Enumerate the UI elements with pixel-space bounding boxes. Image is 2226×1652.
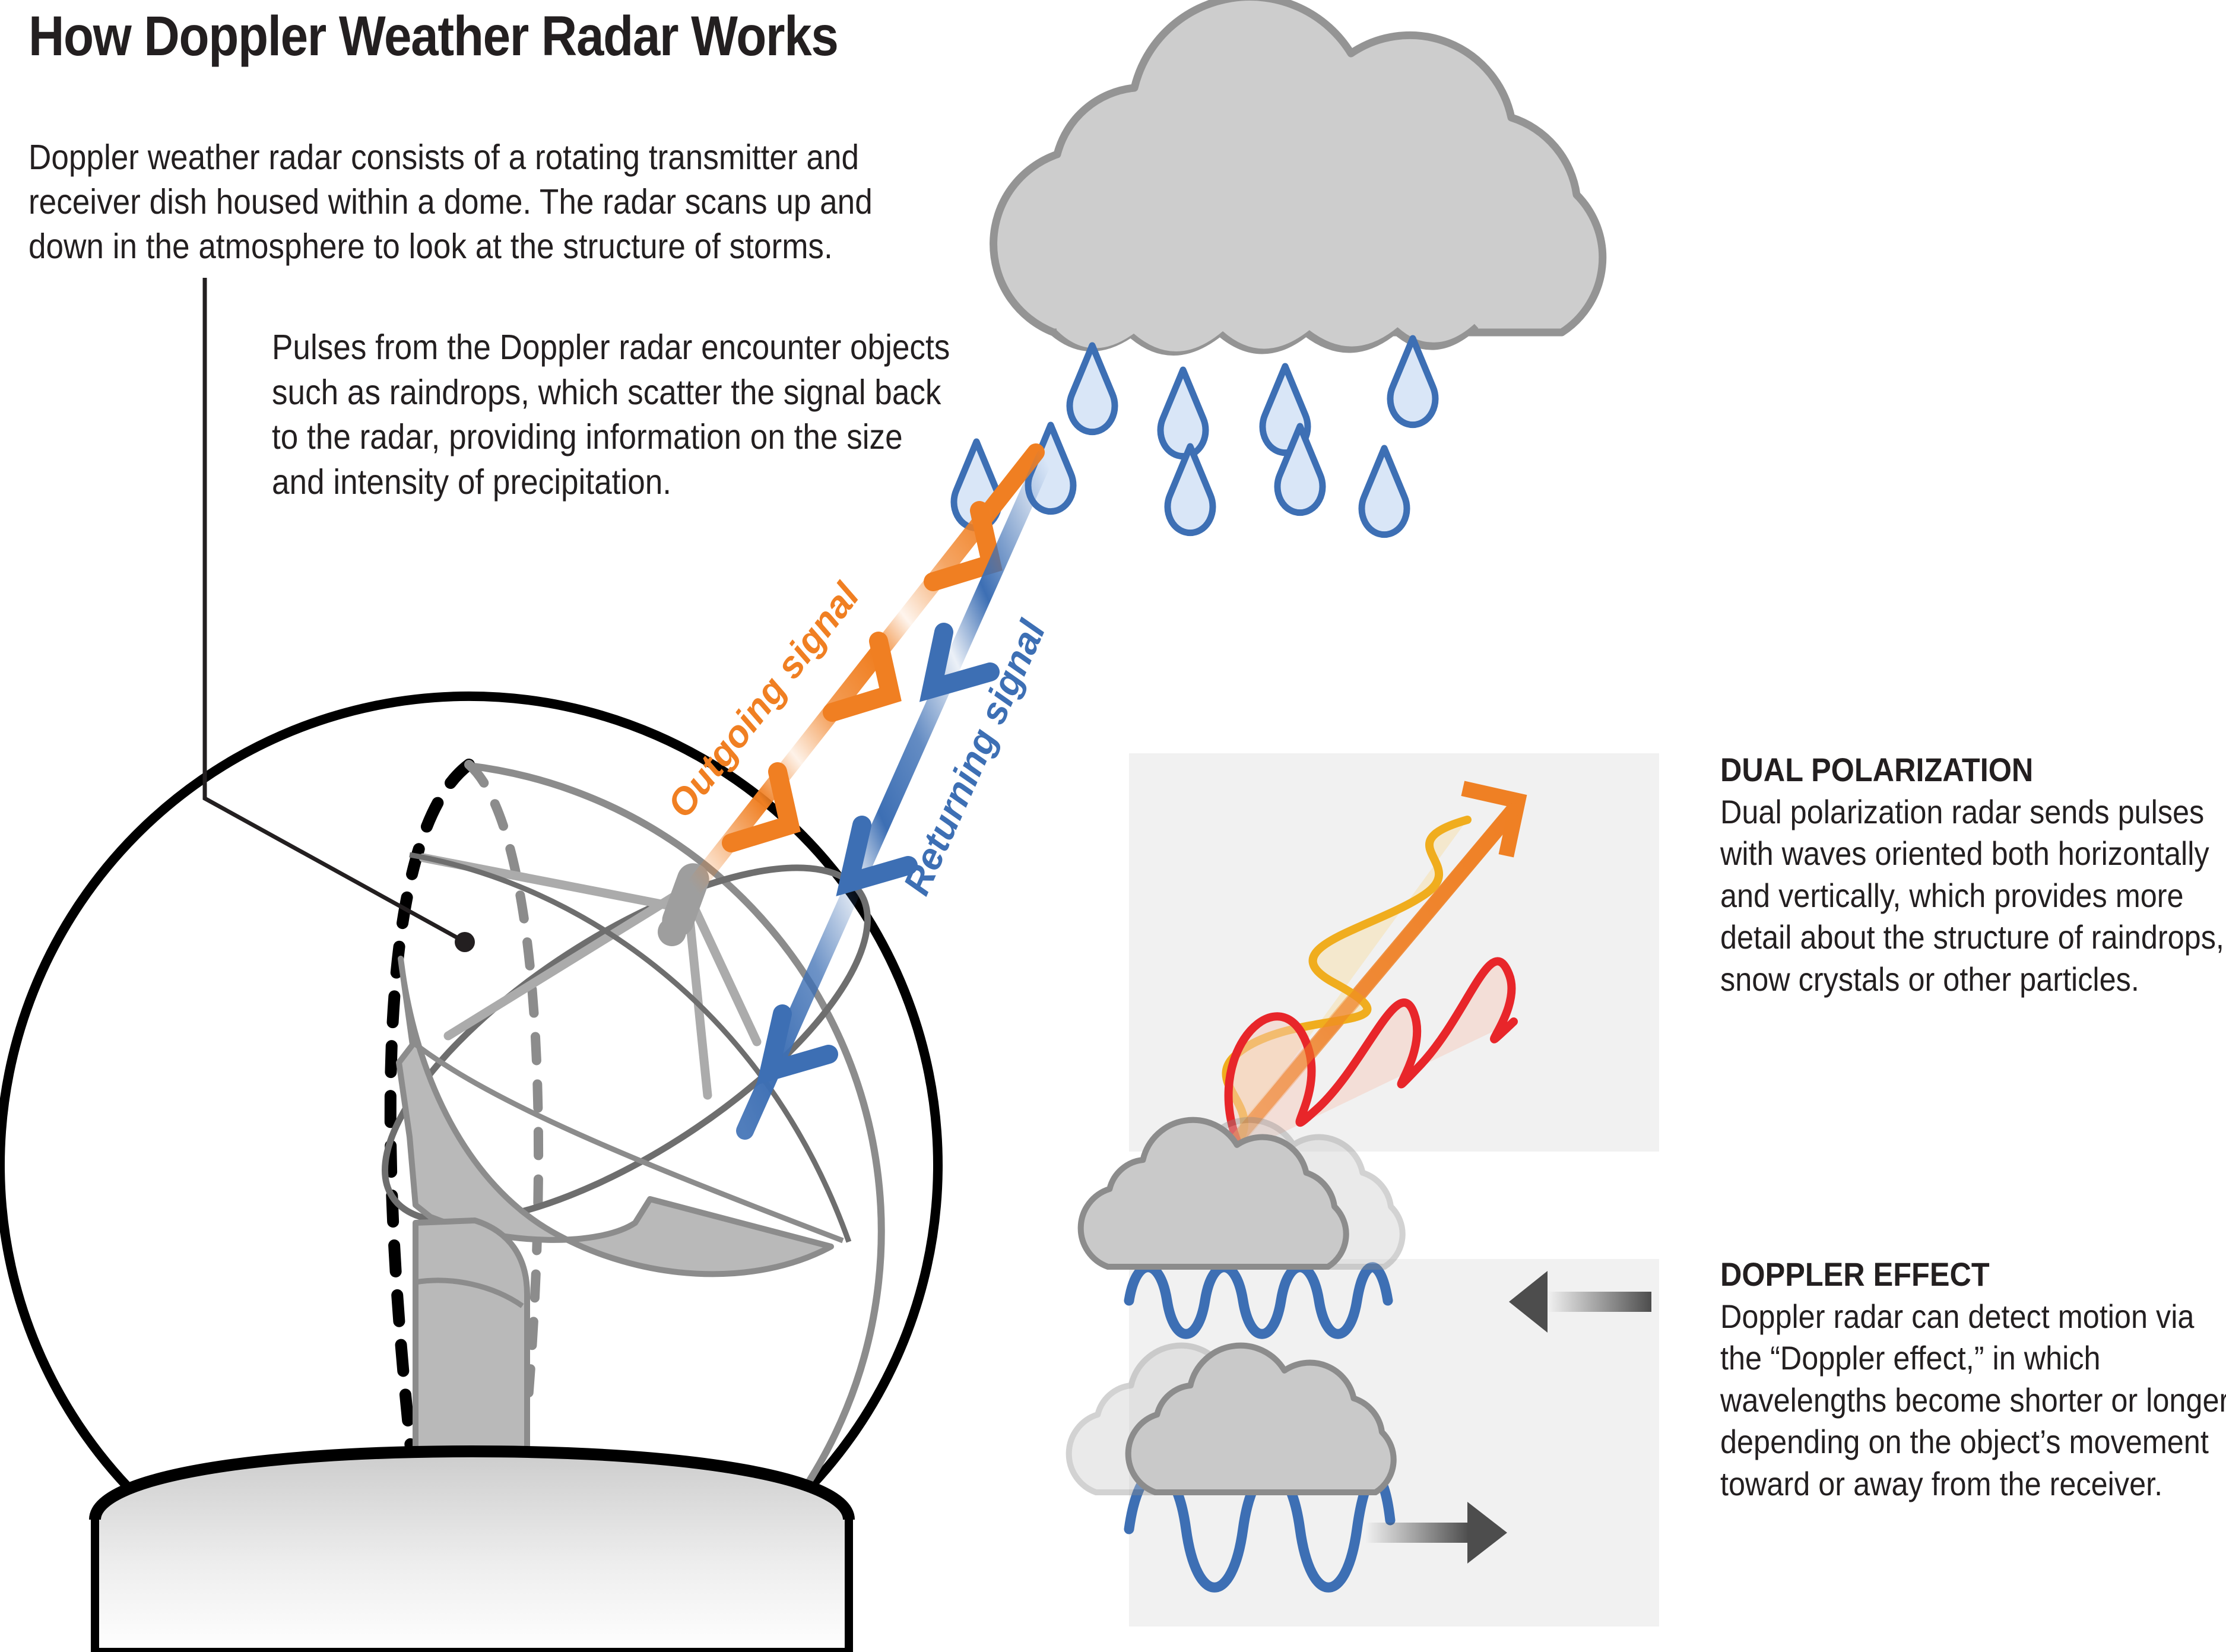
- doppler-effect-heading: DOPPLER EFFECT: [1720, 1257, 2226, 1292]
- dual-polarization-text-block: DUAL POLARIZATION Dual polarization rada…: [1720, 753, 2226, 1001]
- doppler-effect-text-block: DOPPLER EFFECT Doppler radar can detect …: [1720, 1257, 2226, 1505]
- raindrop: [1390, 338, 1435, 425]
- doppler-row-longer: [1069, 1346, 1507, 1588]
- dual-polarization-heading: DUAL POLARIZATION: [1720, 753, 2226, 788]
- doppler-effect-body: Doppler radar can detect motion via the …: [1720, 1296, 2226, 1505]
- doppler-effect-illustration-panel: [1129, 1259, 1659, 1626]
- doppler-effect-wave-diagram: [1129, 1259, 1659, 1626]
- raindrop: [1160, 370, 1206, 456]
- leader-line-intro: [205, 278, 475, 952]
- raindrop: [1168, 446, 1213, 533]
- storm-cloud-icon: [994, 0, 1603, 352]
- infographic-canvas: How Doppler Weather Radar Works Doppler …: [0, 0, 2226, 1652]
- dual-polarization-body: Dual polarization radar sends pulses wit…: [1720, 791, 2226, 1001]
- dual-polarization-illustration-panel: [1129, 753, 1659, 1152]
- motion-arrow-left-icon: [1509, 1271, 1651, 1333]
- radar-tower-base: [95, 1451, 849, 1652]
- short-wavelength-wave: [1129, 1267, 1388, 1334]
- raindrop: [1070, 345, 1115, 432]
- raindrop: [1362, 448, 1407, 535]
- dual-polarization-wave-diagram: [1129, 753, 1659, 1152]
- radar-dish-assembly: [334, 802, 919, 1496]
